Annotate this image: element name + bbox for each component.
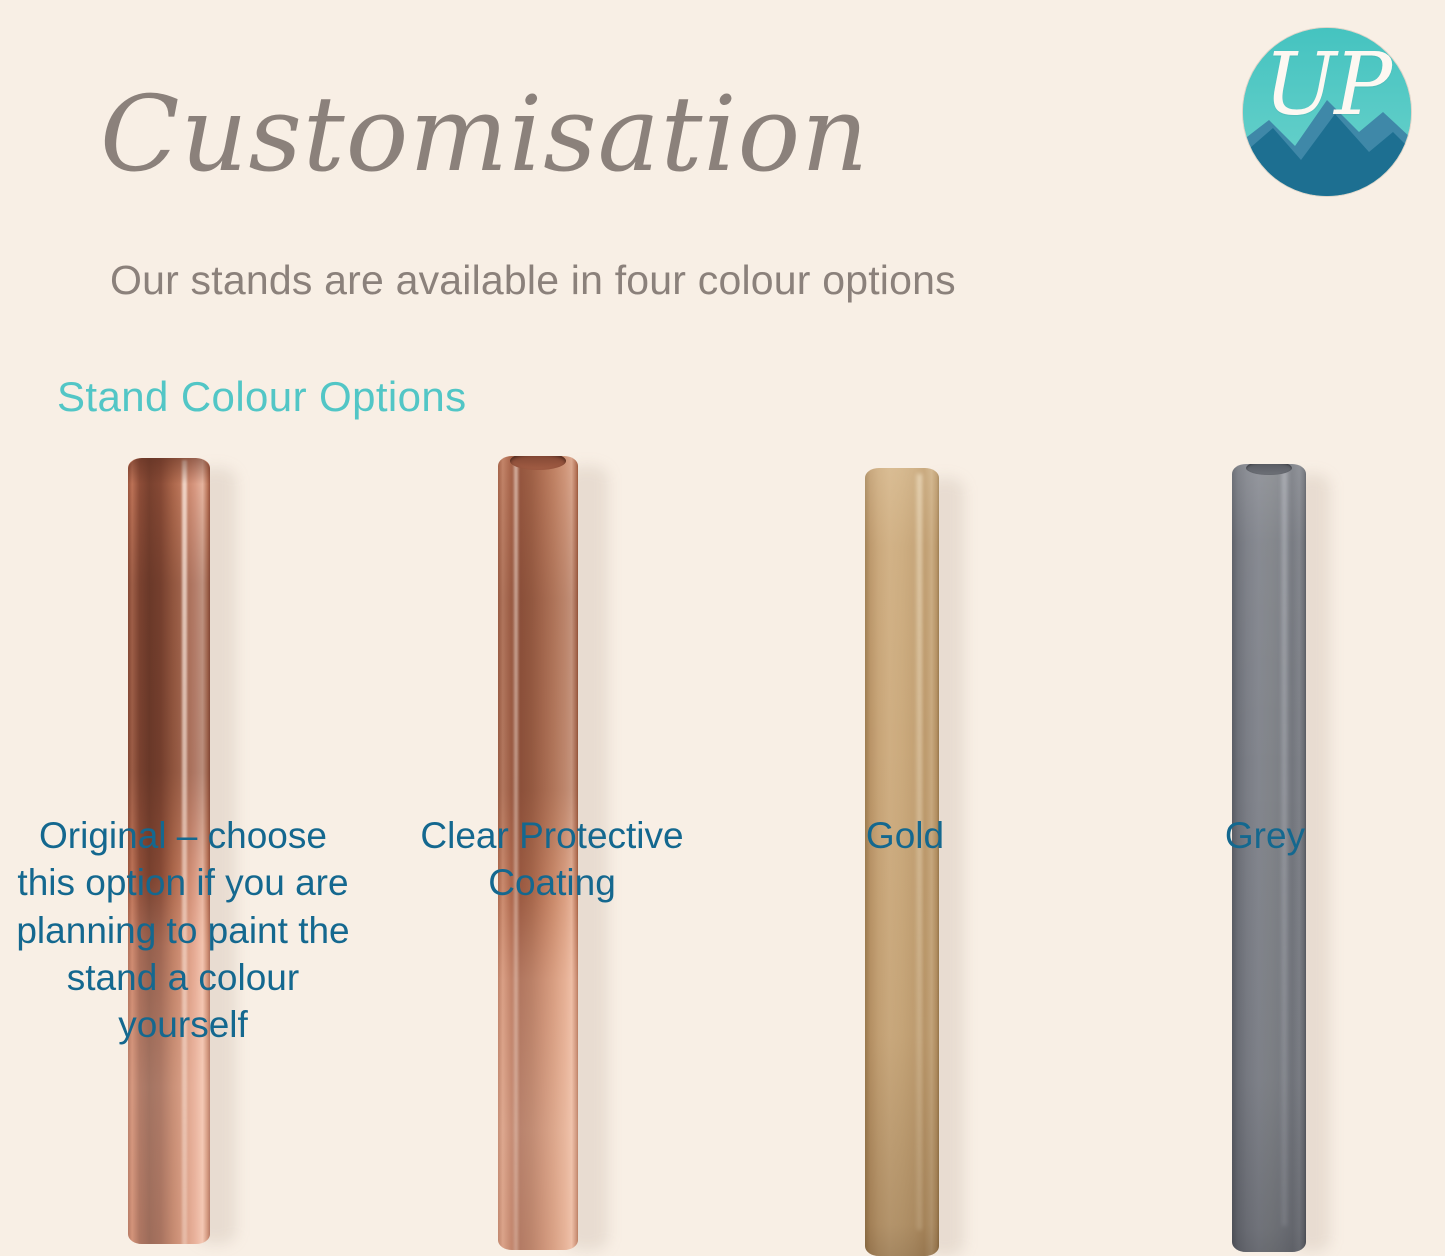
stand-swatch-row xyxy=(0,440,1445,840)
swatch-label-gold: Gold xyxy=(790,812,1020,859)
page-subtitle: Our stands are available in four colour … xyxy=(110,258,956,303)
swatch-cylinder-gold xyxy=(865,468,939,1256)
swatch-label-original: Original – choose this option if you are… xyxy=(8,812,358,1049)
swatch-label-grey: Grey xyxy=(1150,812,1380,859)
swatch-surface xyxy=(865,468,939,1256)
page-title: Customisation xyxy=(100,82,869,186)
logo-text: UP xyxy=(1243,42,1411,128)
section-heading: Stand Colour Options xyxy=(57,374,467,420)
swatch-label-clear-protective-coating: Clear Protective Coating xyxy=(392,812,712,907)
customisation-page: UP Customisation Our stands are availabl… xyxy=(0,0,1445,1156)
swatch-top-cap xyxy=(128,458,210,484)
up-logo-badge: UP xyxy=(1243,28,1411,196)
